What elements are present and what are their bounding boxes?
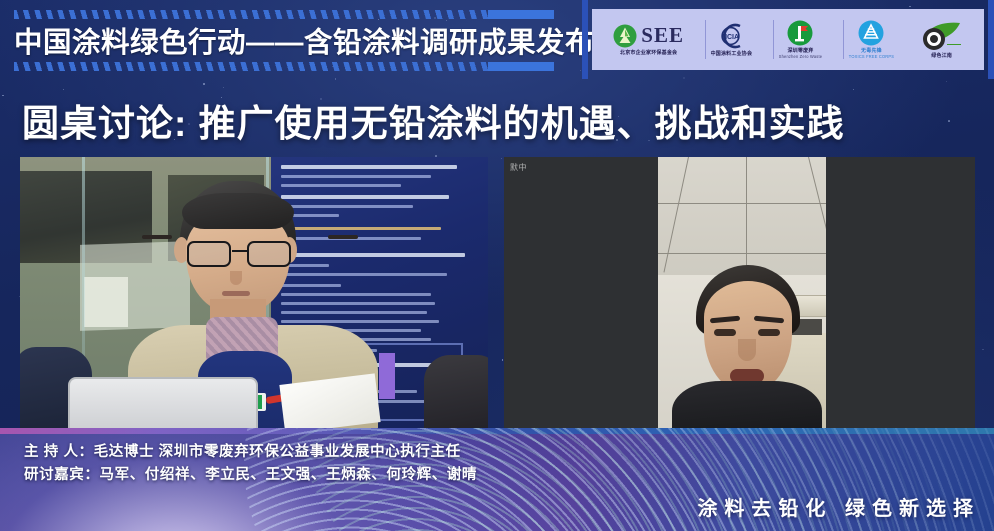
credits-host: 主 持 人：毛达博士 深圳市零废弃环保公益事业发展中心执行主任 [24,441,564,464]
toxics-free-icon [858,20,884,46]
webcam-eye-left [714,329,736,336]
logo-bar-right-edge [988,0,994,79]
svg-text:NCIA: NCIA [722,34,739,41]
event-banner: 中国涂料绿色行动——含铅涂料调研成果发布会 [0,0,578,79]
see-pine-icon [613,24,637,48]
ceiling [658,157,826,275]
session-headline: 圆桌讨论: 推广使用无铅涂料的机遇、挑战和实践 [22,96,882,144]
eyebrow-right [328,235,358,239]
webcam-participant-label: 默中 [510,162,527,173]
webcam-video [658,157,826,428]
logo-see: SEE 北京市企业家环保基金会 [607,9,690,70]
zero-waste-caption-sub: Shenzhen Zero Waste [779,53,822,59]
mouth [222,291,250,296]
see-caption: 北京市企业家环保基金会 [620,49,677,55]
video-tile-webcam[interactable]: 默中 [504,157,975,428]
banner-dash-solid-bottom [488,62,554,71]
eyeglasses-icon [185,241,293,267]
banner-dash-solid-top [488,10,554,19]
banner-dash-line-bottom [14,62,554,71]
green-leaf-icon [921,21,963,51]
credits-guests: 研讨嘉宾：马军、付绍祥、李立民、王文强、王炳森、何玲辉、谢晴 [24,464,564,487]
neighbor-person-right [424,355,488,428]
logo-bar-left-edge [582,0,588,79]
see-wordmark: SEE [641,26,684,45]
banner-dash-line-top [14,10,554,19]
credits-block: 主 持 人：毛达博士 深圳市零废弃环保公益事业发展中心执行主任 研讨嘉宾：马军、… [24,441,564,487]
toxics-free-caption-sub: TOXICS FREE CORPS [849,53,894,59]
toxics-free-caption: 无毒先锋 [861,47,882,53]
laptop [68,377,258,428]
logo-toxics-free-corps: 无毒先锋 TOXICS FREE CORPS [843,9,900,70]
webcam-eye-right [758,329,780,336]
event-title: 中国涂料绿色行动——含铅涂料调研成果发布会 [14,20,566,60]
logo-green-leaf: 绿色江南 [915,9,969,70]
webcam-torso [672,381,822,428]
eyebrow-left [142,235,172,239]
logo-shenzhen-zero-waste: 深圳零废弃 Shenzhen Zero Waste [773,9,828,70]
logo-ncia: NCIA 中国涂料工业协会 [705,9,759,70]
broadcast-stage: 中国涂料绿色行动——含铅涂料调研成果发布会 SEE 北京市企业家环保基金会 [0,0,994,531]
nose [230,271,242,285]
webcam-nose [738,339,756,361]
video-tile-room[interactable] [20,157,488,428]
ncia-caption: 中国涂料工业协会 [711,50,753,56]
green-leaf-caption: 绿色江南 [931,52,952,58]
zero-waste-icon [787,20,813,46]
wall-paper-small [84,277,128,327]
sponsor-logo-bar: SEE 北京市企业家环保基金会 NCIA 中国涂料工业协会 深圳零废弃 Shen… [592,9,984,70]
room-scene [20,157,488,428]
zero-waste-caption: 深圳零废弃 [787,47,813,53]
campaign-slogan: 涂料去铅化 绿色新选择 [534,489,980,523]
hair-fringe [182,193,294,229]
ncia-icon: NCIA [716,23,746,49]
